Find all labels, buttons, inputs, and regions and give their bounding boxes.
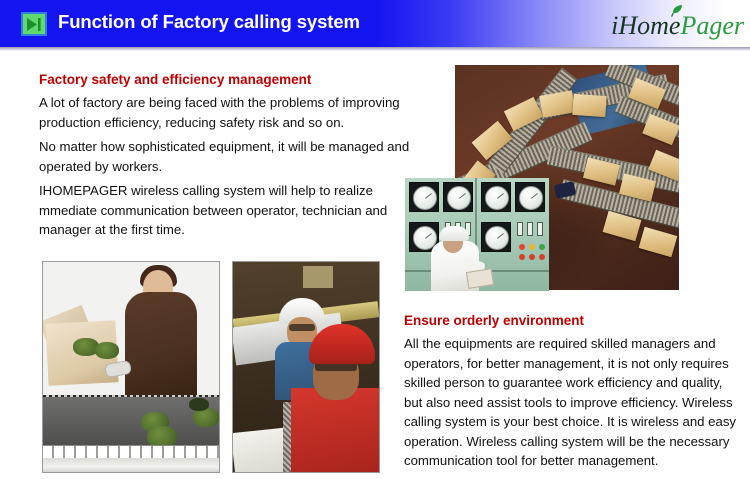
- broccoli-head: [189, 398, 209, 411]
- worker-clipboard: [466, 268, 494, 289]
- gauge-cabinet: [481, 222, 511, 252]
- panel-switch: [517, 222, 523, 236]
- left-paragraph-1: A lot of factory are being faced with th…: [39, 93, 424, 132]
- pressure-gauge: [447, 186, 471, 210]
- panel-switch: [537, 222, 543, 236]
- gauge-cabinet: [443, 182, 473, 212]
- conveyor-base-frame: [43, 458, 219, 473]
- photo-factory-workers: [232, 261, 380, 473]
- header-divider: [0, 47, 750, 51]
- status-led: [539, 244, 545, 250]
- conveyor-rollers: [43, 445, 219, 459]
- left-paragraph-3: IHOMEPAGER wireless calling system will …: [39, 181, 399, 240]
- left-section-heading: Factory safety and efficiency management: [39, 72, 311, 87]
- status-led: [519, 254, 525, 260]
- right-section-heading: Ensure orderly environment: [404, 313, 584, 328]
- status-led: [539, 254, 545, 260]
- status-led: [519, 244, 525, 250]
- leaf-icon: [670, 4, 684, 18]
- brand-name-suffix: Pager: [680, 11, 744, 40]
- worker-hard-hat: [439, 226, 469, 241]
- pressure-gauge: [485, 226, 509, 250]
- worker-uniform: [125, 292, 197, 400]
- status-led: [529, 244, 535, 250]
- play-forward-icon: [21, 12, 47, 36]
- conveyor-box: [572, 94, 606, 117]
- pressure-gauge: [485, 186, 509, 210]
- worker-red-shirt: [291, 388, 380, 473]
- left-paragraph-2: No matter how sophisticated equipment, i…: [39, 137, 424, 176]
- pressure-gauge: [413, 186, 437, 210]
- gauge-cabinet: [515, 182, 545, 212]
- photo-control-panel: [405, 178, 549, 291]
- gauge-cabinet: [409, 182, 439, 212]
- safety-glasses: [289, 324, 315, 331]
- panel-switch: [527, 222, 533, 236]
- pressure-gauge: [519, 186, 543, 210]
- right-paragraph-1: All the equipments are required skilled …: [404, 334, 744, 471]
- gauge-cabinet: [481, 182, 511, 212]
- background-lamp: [303, 266, 333, 288]
- photo-packing-line: [42, 261, 220, 473]
- page-title: Function of Factory calling system: [58, 11, 360, 33]
- conveyor-box: [639, 227, 678, 258]
- broccoli-head: [95, 342, 119, 359]
- status-led: [529, 254, 535, 260]
